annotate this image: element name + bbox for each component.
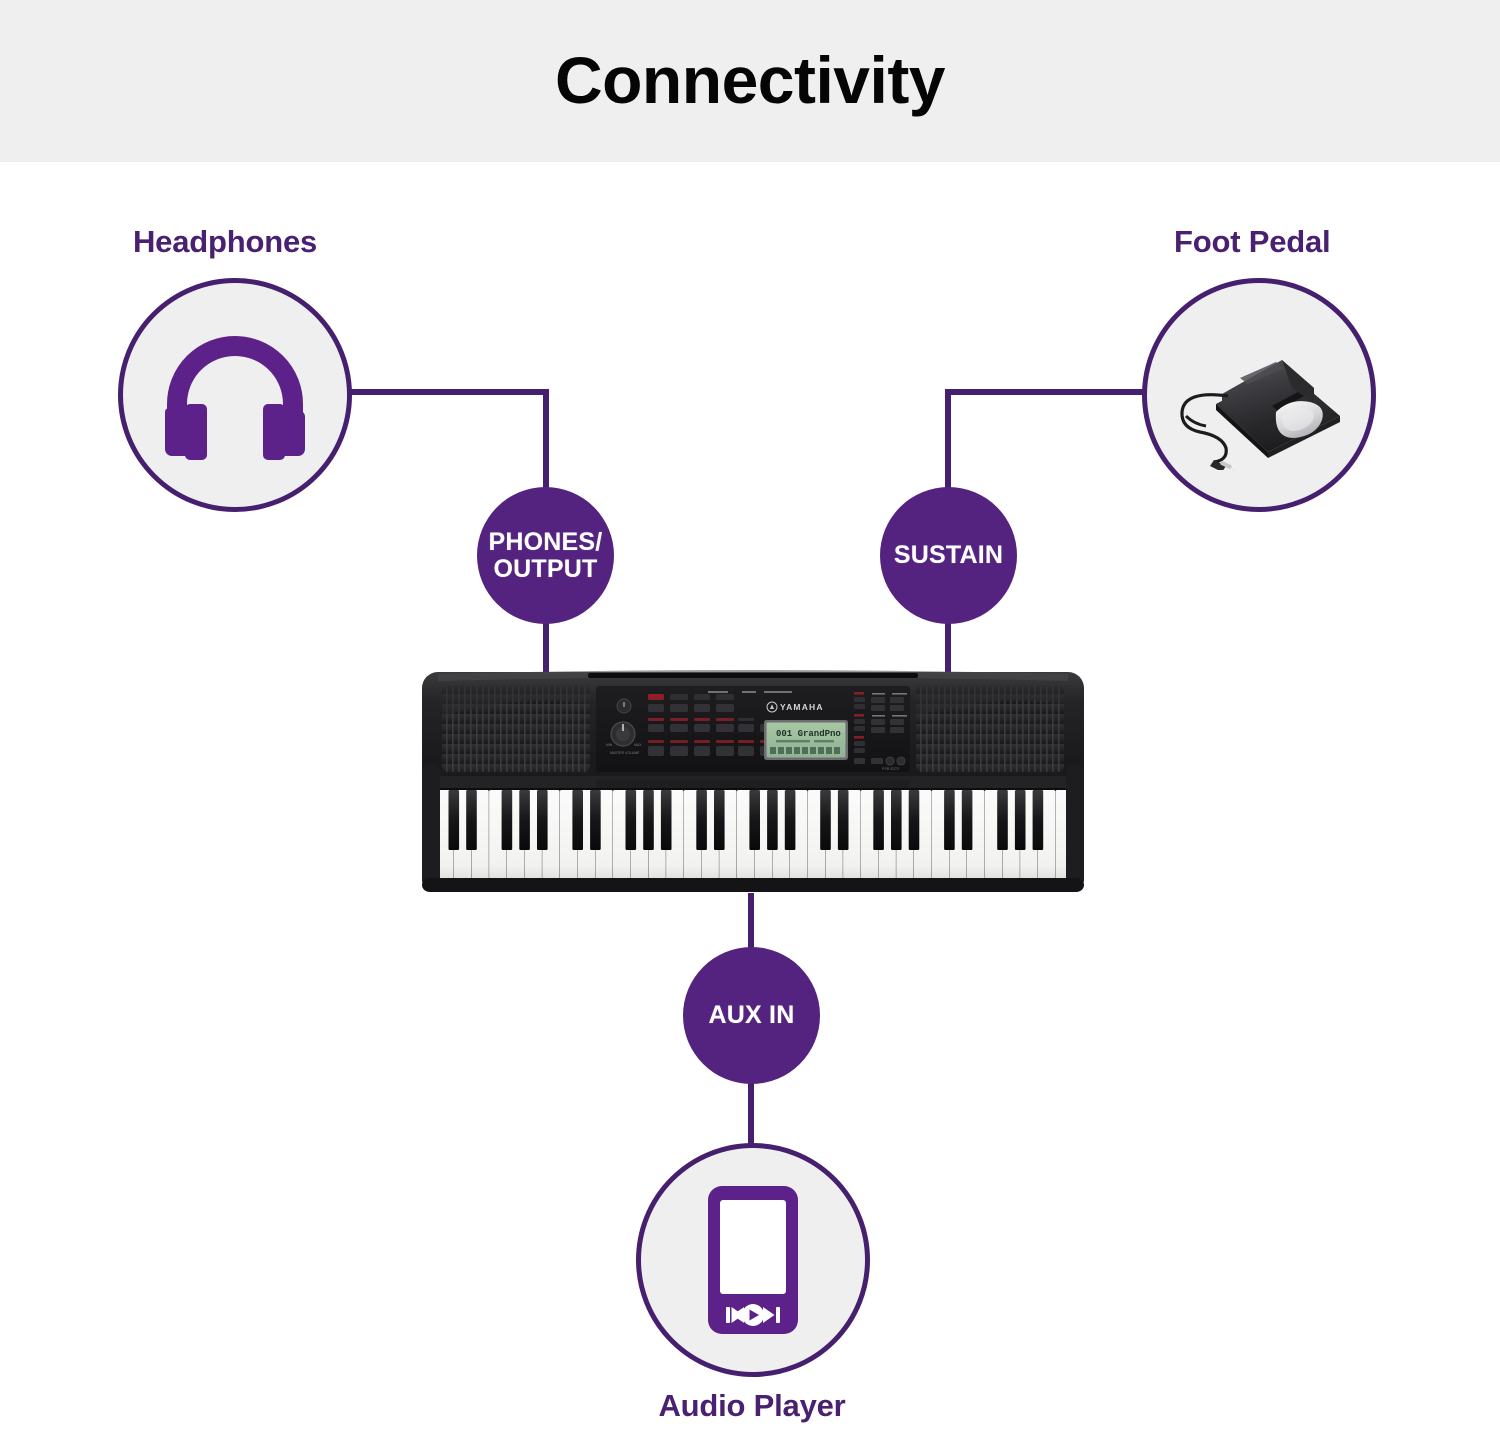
headphones-icon xyxy=(155,330,315,460)
svg-text:MASTER VOLUME: MASTER VOLUME xyxy=(610,751,640,755)
keybed xyxy=(434,788,1072,888)
portable-audio-player-icon xyxy=(698,1180,808,1340)
aux-in-label: AUX IN xyxy=(709,1002,795,1029)
key-legend-strip xyxy=(596,780,910,788)
audio-player-node[interactable] xyxy=(636,1143,870,1377)
phones-output-line-2: OUTPUT xyxy=(489,556,603,583)
audio-player-label-text: Audio Player xyxy=(658,1388,845,1423)
keyboard-graphic: MIN MAX MASTER VOLUME xyxy=(420,664,1086,896)
port-badge-aux-in[interactable]: AUX IN xyxy=(683,947,820,1084)
svg-text:YAMAHA: YAMAHA xyxy=(780,702,824,712)
lcd-text: 001 GrandPno xyxy=(776,729,841,739)
port-badge-phones-output[interactable]: PHONES/ OUTPUT xyxy=(477,487,614,624)
audio-player-label: Audio Player xyxy=(0,1388,1500,1424)
svg-text:MIN: MIN xyxy=(606,743,613,747)
sustain-label: SUSTAIN xyxy=(894,542,1003,569)
connectivity-diagram: Connectivity Headphones Foot Pedal xyxy=(0,0,1500,1430)
port-badge-sustain[interactable]: SUSTAIN xyxy=(880,487,1017,624)
sustain-pedal-photo xyxy=(1164,320,1354,470)
yamaha-keyboard[interactable]: MIN MAX MASTER VOLUME xyxy=(420,664,1086,896)
svg-text:MAX: MAX xyxy=(634,743,642,747)
phones-output-line-1: PHONES/ xyxy=(489,529,603,556)
headphones-label: Headphones xyxy=(133,224,317,260)
right-speaker-grille xyxy=(916,686,1064,772)
foot-pedal-node[interactable] xyxy=(1142,278,1376,512)
left-speaker-grille xyxy=(442,686,590,772)
lcd-display: 001 GrandPno xyxy=(764,720,848,760)
headphones-node[interactable] xyxy=(118,278,352,512)
svg-text:PSR-E273: PSR-E273 xyxy=(882,767,899,771)
foot-pedal-label: Foot Pedal xyxy=(1174,224,1330,260)
